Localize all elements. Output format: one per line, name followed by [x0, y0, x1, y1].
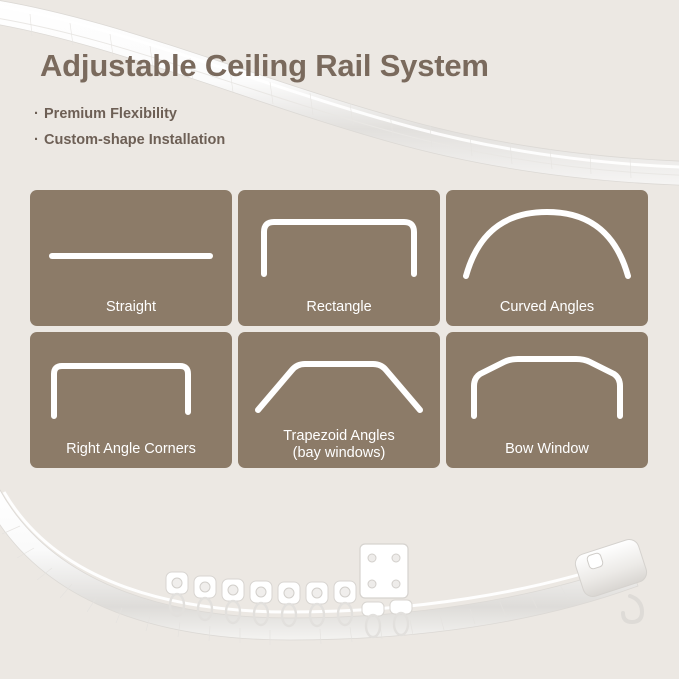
shape-card-straight: Straight [30, 190, 232, 326]
curved-angles-shape-icon [446, 196, 648, 284]
shape-card-bow-window-label: Bow Window [446, 441, 648, 458]
feature-bullets: ·Premium Flexibility ·Custom-shape Insta… [34, 106, 434, 158]
shape-card-rectangle-label: Rectangle [238, 299, 440, 316]
product-infographic: Adjustable Ceiling Rail System ·Premium … [0, 0, 679, 679]
shape-card-trapezoid-angles-label-line1: Trapezoid Angles [283, 428, 395, 444]
shape-card-rectangle: Rectangle [238, 190, 440, 326]
ceiling-mount-bracket [360, 544, 408, 598]
top-rail-illustration [0, 0, 679, 186]
page-title: Adjustable Ceiling Rail System [40, 48, 489, 84]
bottom-rail-illustration [0, 440, 679, 679]
shape-card-right-angle-corners: Right Angle Corners [30, 332, 232, 468]
bullet-marker-icon: · [34, 132, 44, 148]
shape-card-trapezoid-angles-label: Trapezoid Angles (bay windows) [238, 428, 440, 462]
shape-card-trapezoid-angles-label-line2: (bay windows) [293, 445, 386, 461]
shape-card-curved-angles: Curved Angles [446, 190, 648, 326]
shape-card-trapezoid-angles: Trapezoid Angles (bay windows) [238, 332, 440, 468]
shape-card-straight-label: Straight [30, 299, 232, 316]
shape-card-curved-angles-label: Curved Angles [446, 299, 648, 316]
rail-gliders [166, 572, 412, 637]
feature-bullet-1-label: Premium Flexibility [44, 106, 177, 122]
rectangle-shape-icon [238, 196, 440, 284]
bullet-marker-icon: · [34, 106, 44, 122]
trapezoid-angles-shape-icon [238, 338, 440, 426]
straight-shape-icon [30, 196, 232, 284]
shape-options-grid: Straight Rectangle Curved Angles Right A… [30, 190, 650, 468]
shape-card-bow-window: Bow Window [446, 332, 648, 468]
feature-bullet-2: ·Custom-shape Installation [34, 132, 434, 148]
right-angle-corners-shape-icon [30, 338, 232, 426]
feature-bullet-1: ·Premium Flexibility [34, 106, 434, 122]
rail-end-cap [573, 537, 649, 622]
feature-bullet-2-label: Custom-shape Installation [44, 132, 225, 148]
bow-window-shape-icon [446, 338, 648, 426]
shape-card-right-angle-corners-label: Right Angle Corners [30, 441, 232, 458]
